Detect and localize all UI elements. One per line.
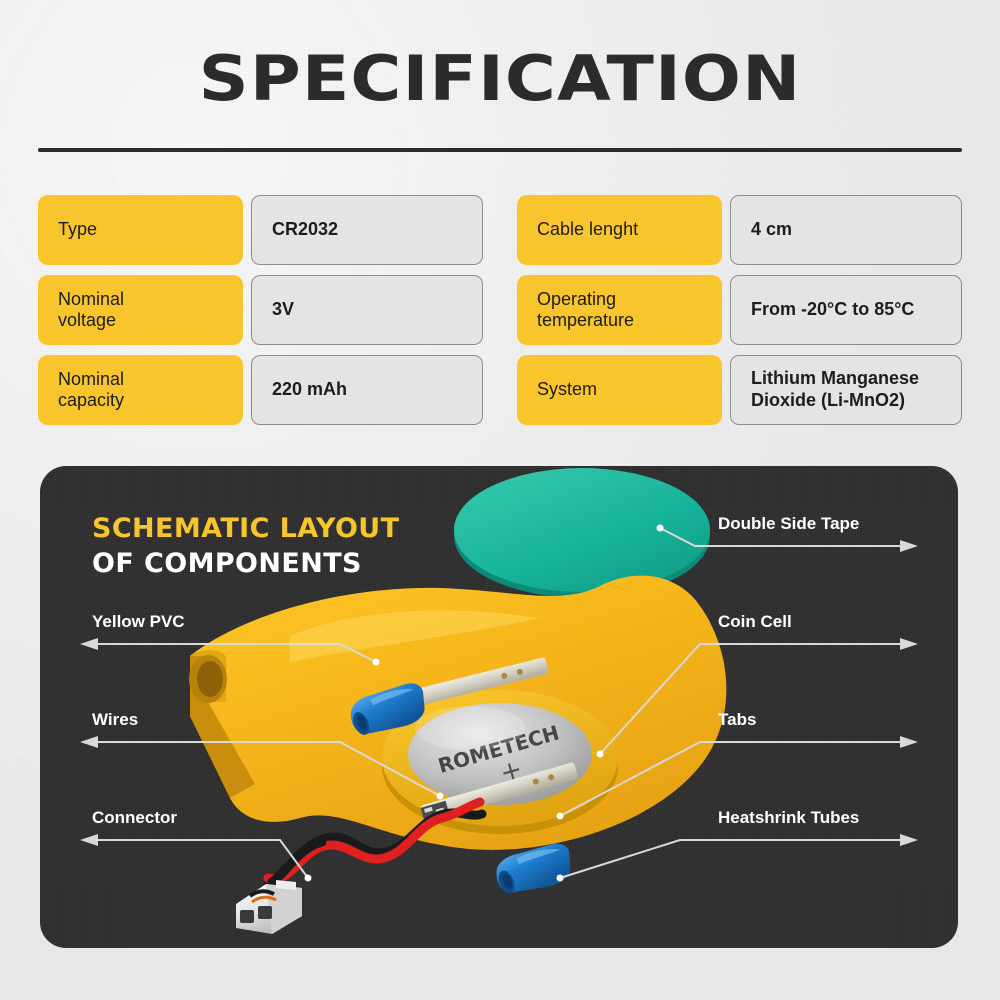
- spec-key: System: [517, 355, 722, 425]
- spec-value: 220 mAh: [251, 355, 483, 425]
- spec-value: 4 cm: [730, 195, 962, 265]
- spec-value: From -20°C to 85°C: [730, 275, 962, 345]
- spec-key: Nominalvoltage: [38, 275, 243, 345]
- double-side-tape-part: [454, 468, 710, 598]
- specification-table: Type CR2032 Cable lenght 4 cm Nominalvol…: [38, 195, 962, 425]
- spec-value: Lithium ManganeseDioxide (Li-MnO2): [730, 355, 962, 425]
- callout-label-wires: Wires: [92, 710, 138, 730]
- spec-key: Operatingtemperature: [517, 275, 722, 345]
- schematic-panel: SCHEMATIC LAYOUT OF COMPONENTS: [40, 466, 958, 948]
- table-row: System Lithium ManganeseDioxide (Li-MnO2…: [517, 355, 962, 425]
- spec-key: Cable lenght: [517, 195, 722, 265]
- spec-key: Nominalcapacity: [38, 355, 243, 425]
- connector-part: [236, 880, 302, 934]
- callout-label-yellow-pvc: Yellow PVC: [92, 612, 185, 632]
- exploded-view-illustration: ROMETECH + 3V Lithium Battery: [40, 466, 958, 948]
- title-divider: [38, 148, 962, 152]
- page-title: SPECIFICATION: [0, 48, 1000, 110]
- callout-label-heatshrink-tubes: Heatshrink Tubes: [718, 808, 859, 828]
- callout-label-coin-cell: Coin Cell: [718, 612, 792, 632]
- table-row: Cable lenght 4 cm: [517, 195, 962, 265]
- spec-key: Type: [38, 195, 243, 265]
- spec-value: 3V: [251, 275, 483, 345]
- spec-value: CR2032: [251, 195, 483, 265]
- table-row: Nominalvoltage 3V: [38, 275, 483, 345]
- table-row: Type CR2032: [38, 195, 483, 265]
- table-row: Nominalcapacity 220 mAh: [38, 355, 483, 425]
- callout-label-tabs: Tabs: [718, 710, 756, 730]
- callout-label-double-side-tape: Double Side Tape: [718, 514, 859, 534]
- table-row: Operatingtemperature From -20°C to 85°C: [517, 275, 962, 345]
- callout-label-connector: Connector: [92, 808, 177, 828]
